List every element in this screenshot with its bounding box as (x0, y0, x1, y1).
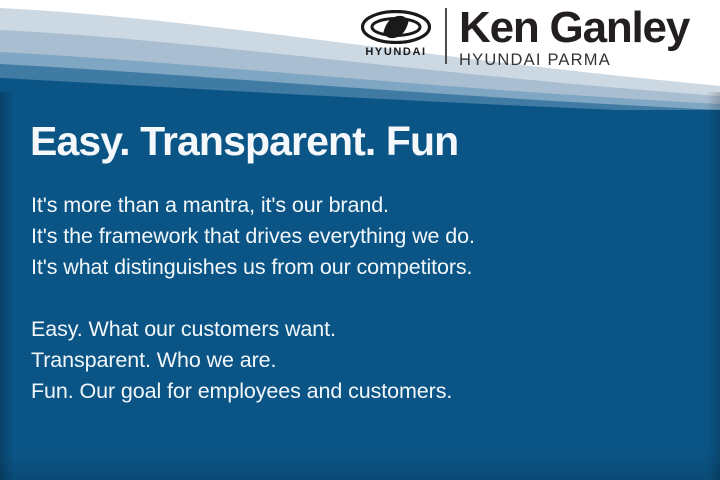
dealer-logo-lockup[interactable]: HYUNDAI Ken Ganley HYUNDAI PARMA (355, 6, 715, 72)
copy-line: Easy. What our customers want. (31, 314, 475, 345)
hyundai-logo-icon (361, 10, 431, 44)
copy-line: Fun. Our goal for employees and customer… (31, 376, 475, 407)
hyundai-brand-banner: HYUNDAI Ken Ganley HYUNDAI PARMA Easy. T… (0, 0, 720, 480)
copy-line: Transparent. Who we are. (31, 345, 475, 376)
logo-divider (445, 8, 447, 64)
headline: Easy. Transparent. Fun (30, 121, 458, 162)
copy-line: It's the framework that drives everythin… (31, 221, 475, 252)
hyundai-brand-mark: HYUNDAI (355, 6, 437, 58)
copy-line: It's what distinguishes us from our comp… (31, 252, 475, 283)
dealer-location: HYUNDAI PARMA (459, 52, 689, 69)
hyundai-wordmark: HYUNDAI (365, 47, 426, 58)
paragraph-spacer (31, 283, 475, 314)
dealer-name-block: Ken Ganley HYUNDAI PARMA (459, 6, 689, 69)
copy-line: It's more than a mantra, it's our brand. (31, 190, 475, 221)
body-copy: It's more than a mantra, it's our brand.… (31, 190, 475, 407)
dealer-name: Ken Ganley (459, 6, 689, 49)
